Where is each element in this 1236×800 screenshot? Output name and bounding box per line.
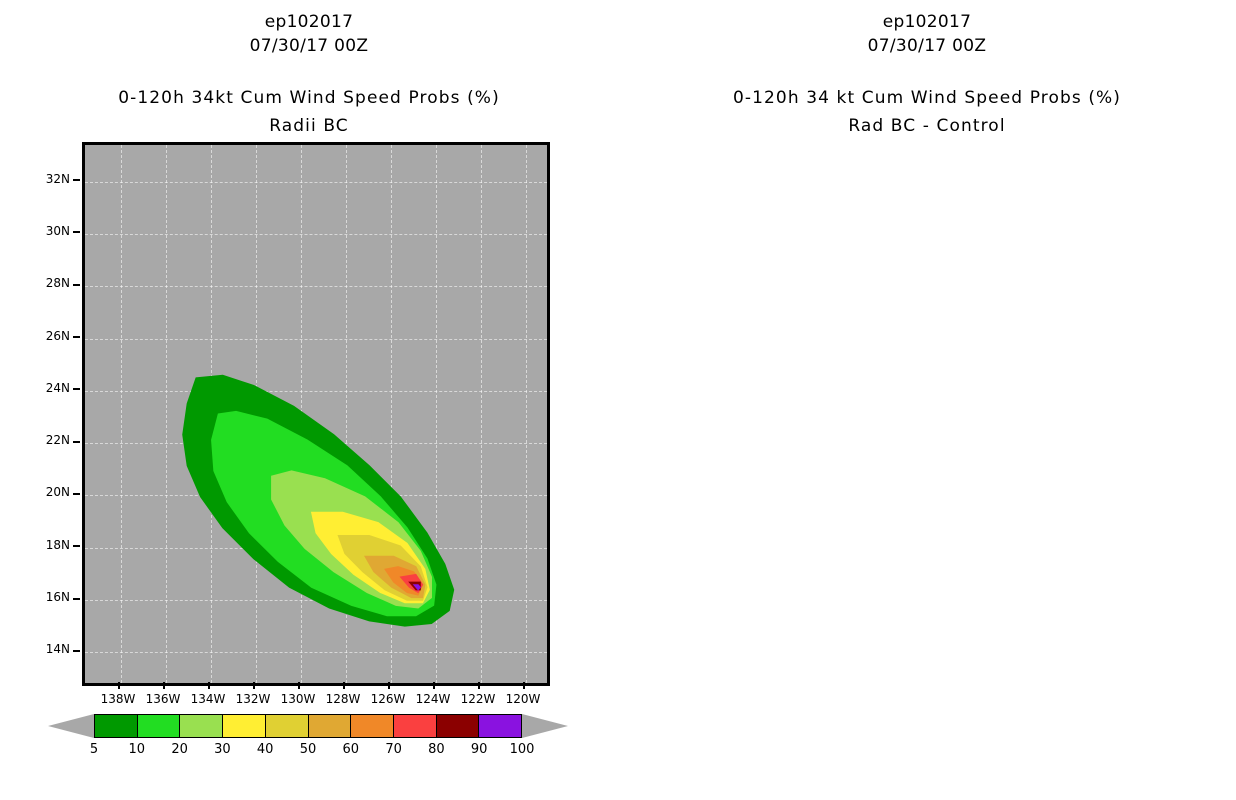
panel-right-title-main: 0-120h 34 kt Cum Wind Speed Probs (%) [618, 88, 1236, 108]
colorbar-band[interactable] [309, 715, 352, 737]
colorbar-tick-label: 100 [510, 742, 535, 757]
x-tick-mark [433, 682, 435, 689]
y-axis-tick-label: 20N [34, 485, 80, 499]
y-tick-mark [73, 493, 80, 495]
colorbar-tick-label: 80 [428, 742, 445, 757]
y-tick-mark [73, 598, 80, 600]
x-tick-mark [388, 682, 390, 689]
x-tick-mark [298, 682, 300, 689]
y-tick-mark [73, 336, 80, 338]
colorbar-tick-label: 60 [343, 742, 360, 757]
y-tick-mark [73, 545, 80, 547]
x-axis-tick-label: 132W [236, 692, 271, 706]
colorbar-tick-label: 50 [300, 742, 317, 757]
panel-right-title-sub: Rad BC - Control [618, 116, 1236, 136]
y-axis-tick-label: 14N [34, 642, 80, 656]
y-tick-mark [73, 388, 80, 390]
x-tick-mark [163, 682, 165, 689]
y-tick-mark [73, 284, 80, 286]
y-axis-tick-label: 32N [34, 172, 80, 186]
colorbar-tick-label: 30 [214, 742, 231, 757]
colorbar-left-low-arrow-icon [48, 714, 94, 738]
colorbar-band[interactable] [95, 715, 138, 737]
x-tick-mark [118, 682, 120, 689]
panel-right-storm-id: ep102017 [618, 12, 1236, 32]
y-tick-mark [73, 441, 80, 443]
contour-field-probability [85, 145, 547, 683]
x-axis-tick-label: 130W [281, 692, 316, 706]
probability-colorbar[interactable]: 5102030405060708090100 [48, 714, 568, 738]
colorbar-left-bands[interactable] [94, 714, 522, 738]
panel-left-title-main: 0-120h 34kt Cum Wind Speed Probs (%) [0, 88, 618, 108]
colorbar-left-high-arrow-icon [522, 714, 568, 738]
panel-left-title-sub: Radii BC [0, 116, 618, 136]
x-axis-tick-label: 128W [326, 692, 361, 706]
colorbar-band[interactable] [180, 715, 223, 737]
x-axis-tick-label: 138W [101, 692, 136, 706]
x-tick-mark [208, 682, 210, 689]
x-axis-tick-label: 120W [506, 692, 541, 706]
colorbar-band[interactable] [138, 715, 181, 737]
colorbar-band[interactable] [351, 715, 394, 737]
x-axis-tick-label: 134W [191, 692, 226, 706]
colorbar-tick-label: 90 [471, 742, 488, 757]
panel-left-storm-id: ep102017 [0, 12, 618, 32]
colorbar-tick-label: 10 [129, 742, 146, 757]
panel-left-datetime: 07/30/17 00Z [0, 36, 618, 56]
panel-radii-bc: ep102017 07/30/17 00Z 0-120h 34kt Cum Wi… [0, 0, 618, 800]
y-axis-tick-label: 26N [34, 329, 80, 343]
y-axis-tick-label: 30N [34, 224, 80, 238]
colorbar-left-labels: 5102030405060708090100 [48, 742, 568, 760]
y-tick-mark [73, 231, 80, 233]
map-plot-radii-bc[interactable] [82, 142, 550, 686]
x-axis-tick-label: 136W [146, 692, 181, 706]
x-axis-tick-label: 124W [416, 692, 451, 706]
colorbar-band[interactable] [437, 715, 480, 737]
y-axis-tick-label: 16N [34, 590, 80, 604]
y-axis-tick-label: 18N [34, 538, 80, 552]
y-axis-tick-label: 22N [34, 433, 80, 447]
colorbar-band[interactable] [479, 715, 521, 737]
x-tick-mark [343, 682, 345, 689]
colorbar-band[interactable] [394, 715, 437, 737]
colorbar-tick-label: 40 [257, 742, 274, 757]
panel-rad-bc-control: ep102017 07/30/17 00Z 0-120h 34 kt Cum W… [618, 0, 1236, 800]
x-tick-mark [253, 682, 255, 689]
y-axis-tick-label: 24N [34, 381, 80, 395]
colorbar-tick-label: 20 [171, 742, 188, 757]
y-tick-mark [73, 179, 80, 181]
panel-right-datetime: 07/30/17 00Z [618, 36, 1236, 56]
x-tick-mark [523, 682, 525, 689]
x-tick-mark [478, 682, 480, 689]
y-axis-tick-label: 28N [34, 276, 80, 290]
x-axis-tick-label: 126W [371, 692, 406, 706]
y-tick-mark [73, 650, 80, 652]
colorbar-tick-label: 5 [90, 742, 98, 757]
x-axis-tick-label: 122W [461, 692, 496, 706]
colorbar-band[interactable] [266, 715, 309, 737]
colorbar-band[interactable] [223, 715, 266, 737]
colorbar-tick-label: 70 [385, 742, 402, 757]
